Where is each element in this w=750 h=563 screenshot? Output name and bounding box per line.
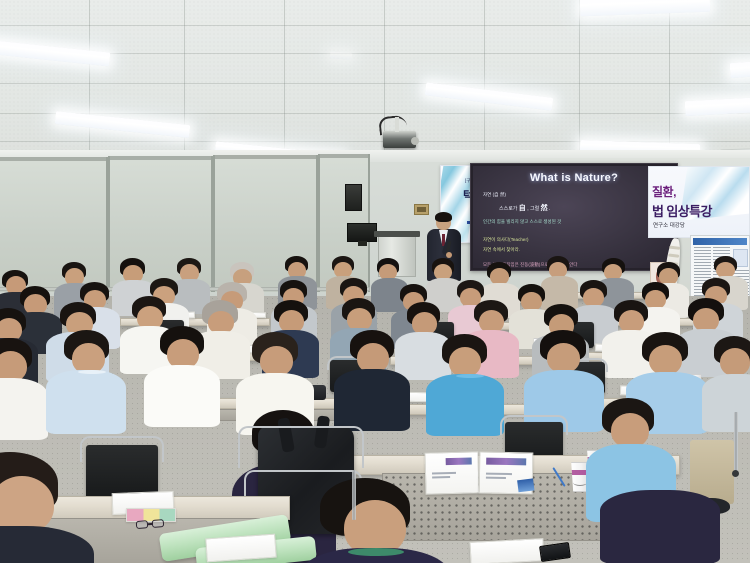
banner-right: 질환, 법 임상특강 연구소 대강당 xyxy=(648,166,750,238)
person-torso xyxy=(334,369,410,431)
partition-rail xyxy=(0,157,106,161)
chair-rail xyxy=(238,426,364,468)
person-head xyxy=(649,345,682,375)
podium-top xyxy=(374,231,420,237)
spine-segment xyxy=(668,253,679,257)
chair-rail xyxy=(80,436,164,462)
booklet-back-cover xyxy=(517,478,534,492)
booklet-page-right xyxy=(479,452,534,495)
banner-right-line1: 질환, xyxy=(652,183,676,200)
slide-line-2-mid: , 그럴 xyxy=(527,206,539,212)
slide-line-3: 인간의 힘을 빌리지 않고 스스로 생성된 것 xyxy=(483,219,561,225)
person-head xyxy=(260,346,293,376)
person-torso xyxy=(600,490,720,563)
booklet-text-line xyxy=(432,472,456,474)
booklet-text-line xyxy=(486,473,512,475)
projector-lens-icon xyxy=(411,137,419,145)
projection-screen: What is Nature? 자연 (自 然) 스스로가 自 , 그럴 然 .… xyxy=(470,163,678,271)
booklet-text-line xyxy=(432,476,450,478)
person-head xyxy=(547,343,580,373)
presenter-hair xyxy=(435,212,452,222)
chair-rail xyxy=(500,415,568,435)
slide-line-4: 자연이 의사다(Teacher) xyxy=(483,237,529,243)
person-collar xyxy=(78,370,106,374)
papers-on-desk xyxy=(205,534,277,563)
booklet-page-left xyxy=(424,451,479,494)
slide-surface: What is Nature? 자연 (自 然) 스스로가 自 , 그럴 然 .… xyxy=(473,166,675,268)
person-head xyxy=(611,413,649,448)
desk-leg xyxy=(352,470,356,520)
poster-header-bar xyxy=(693,238,747,245)
slide-line-2-end: . xyxy=(549,206,550,212)
lecture-hall-photo: [구조의학회 주 턱관절을 주최 What is Nature? 자연 (自 然… xyxy=(0,0,750,563)
person-torso xyxy=(46,370,126,434)
cup-smiley-icon xyxy=(573,479,587,486)
person-head xyxy=(449,347,481,377)
papers-on-desk xyxy=(469,538,544,563)
slide-hanja-2: 然 xyxy=(541,205,548,212)
partition-rail xyxy=(215,155,316,159)
person-head xyxy=(720,348,750,376)
partition-rail xyxy=(110,156,211,160)
person-torso xyxy=(702,374,750,432)
slide-line-1: 자연 (自 然) xyxy=(483,192,506,198)
booklet-graphic xyxy=(486,458,526,466)
person-collar xyxy=(348,548,404,556)
slide-line-2-text: 스스로가 xyxy=(499,206,517,212)
spine-segment xyxy=(669,246,680,250)
person-torso xyxy=(0,378,48,440)
eyeglasses-lens xyxy=(152,519,165,528)
booklet-graphic xyxy=(446,457,472,465)
slide-line-5: 자연 속에서 찾아라. xyxy=(483,247,520,253)
wall-speaker-icon xyxy=(345,184,362,211)
slide-line-2: 스스로가 自 , 그럴 然 . xyxy=(499,203,550,213)
ceiling-lamp xyxy=(330,51,352,60)
presenter-hand xyxy=(446,252,452,258)
partition-rail xyxy=(320,154,368,158)
banner-right-venue: 연구소 대강당 xyxy=(653,221,685,229)
desk-caster xyxy=(732,470,739,477)
person-collar xyxy=(456,374,484,378)
slide-hanja-1: 自 xyxy=(519,205,526,212)
person-torso xyxy=(144,365,220,427)
eyeglasses-lens xyxy=(136,520,149,529)
banner-right-line2: 법 임상특강 xyxy=(652,201,712,220)
podium-monitor xyxy=(347,223,377,242)
desk-leg xyxy=(734,412,738,472)
person-torso xyxy=(426,374,504,436)
open-program-booklet[interactable] xyxy=(425,452,533,494)
slide-title: What is Nature? xyxy=(473,172,675,184)
booklet-text-line xyxy=(486,477,506,479)
